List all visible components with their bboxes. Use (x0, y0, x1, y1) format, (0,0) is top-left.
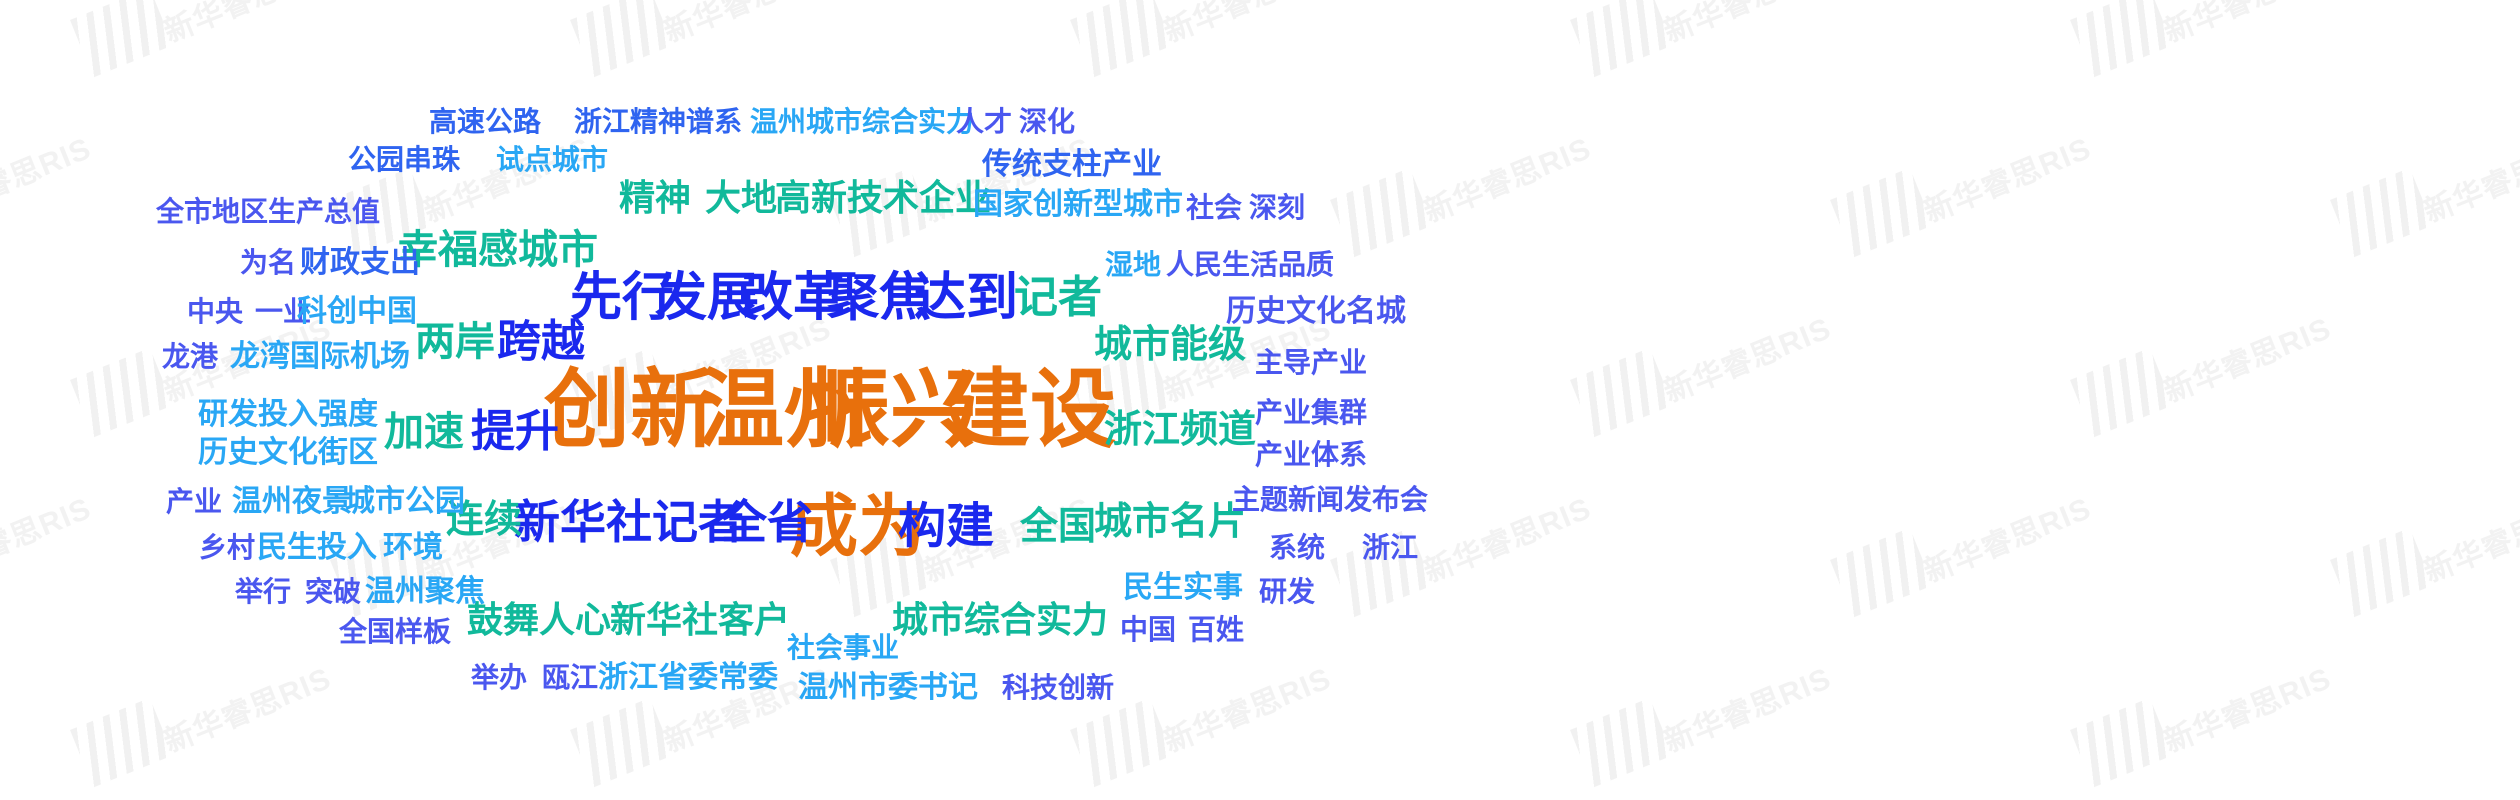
word-cloud-term[interactable]: 公园串珠 (348, 146, 460, 174)
word-cloud-term[interactable]: 财政支出 (300, 248, 420, 278)
word-cloud-term[interactable]: 新华社客户 (610, 602, 790, 638)
word-cloud-term[interactable]: 主导产业 (1255, 349, 1367, 377)
word-cloud-term[interactable]: 城市综合实力 (892, 602, 1108, 638)
word-cloud-term[interactable]: 提升 (471, 410, 559, 454)
word-cloud-term[interactable]: 创新 (544, 367, 716, 453)
word-cloud-term[interactable]: 民生实事 (1123, 573, 1243, 603)
word-cloud-term[interactable]: 构建 (898, 503, 994, 551)
word-cloud-term[interactable]: 系统 (1269, 534, 1325, 562)
word-cloud-term[interactable]: 为名 (240, 249, 296, 277)
word-cloud-term[interactable]: 新华社记者 (514, 499, 744, 545)
word-cloud-term[interactable]: 达到 (914, 272, 1018, 324)
word-cloud-term[interactable]: 浙江 (1362, 534, 1418, 562)
word-cloud-term[interactable]: 全省 (721, 499, 813, 545)
word-cloud-term[interactable]: 城市公园 (345, 487, 465, 517)
word-cloud-canvas: 新华睿思RIS新华睿思RIS新华睿思RIS新华睿思RIS新华睿思RIS新华睿思R… (0, 0, 2520, 800)
word-cloud-term[interactable]: 温州聚焦 (365, 577, 485, 607)
word-cloud-term[interactable]: 民生投入 (257, 533, 377, 563)
word-cloud-term[interactable]: 两岸 (415, 322, 495, 362)
word-cloud-term[interactable]: 中央 (187, 298, 243, 326)
word-cloud-term[interactable]: 精神 (619, 180, 691, 216)
word-cloud-term[interactable]: 举行 (235, 578, 291, 606)
word-cloud-term[interactable]: 全国 (1020, 508, 1096, 546)
word-cloud-term[interactable]: 大地 (705, 180, 777, 216)
word-cloud-term[interactable]: 深化 (1019, 108, 1075, 136)
word-cloud-term[interactable]: 记者 (1014, 276, 1102, 320)
word-cloud-term[interactable]: 高速公路 (429, 108, 541, 136)
word-cloud-term[interactable]: 城市能级 (1094, 326, 1246, 364)
word-cloud-term[interactable]: 百姓 (1188, 616, 1244, 644)
word-cloud-term[interactable]: 产业体系 (1255, 441, 1367, 469)
word-cloud-term[interactable]: 国家创新型城市 (973, 190, 1183, 220)
word-cloud-term[interactable]: 人才 (956, 108, 1012, 136)
word-cloud-term[interactable]: 加速 (384, 412, 464, 452)
word-cloud-term[interactable]: 历史文化名城 (1226, 297, 1406, 327)
word-cloud-term[interactable]: 研发 (1259, 578, 1315, 606)
word-cloud-term[interactable]: 研发投入强度 (198, 400, 378, 430)
word-cloud-term[interactable]: 人民生活品质 (1166, 251, 1334, 279)
word-cloud-term[interactable]: 浙江精神谱系 (574, 108, 742, 136)
word-cloud-term[interactable]: 全国样板 (339, 618, 451, 646)
word-cloud-term[interactable]: 主题新闻发布会 (1232, 486, 1428, 514)
word-cloud-term[interactable]: 温州市委书记 (798, 673, 978, 703)
word-cloud-term[interactable]: 建设 (944, 367, 1116, 453)
word-cloud-term[interactable]: 高新技术企业 (775, 180, 991, 216)
word-cloud-term[interactable]: 产业 (166, 488, 222, 516)
word-cloud-term[interactable]: 鼓舞人心 (467, 602, 611, 638)
word-cloud-term[interactable]: 温州城市综合实力 (750, 108, 974, 136)
word-cloud-term[interactable]: 浙江频道 (1104, 411, 1256, 449)
word-cloud-term[interactable]: 突破 (305, 578, 361, 606)
word-cloud-term[interactable]: 跨越 (497, 320, 585, 364)
word-cloud-term[interactable]: 温州夜景 (232, 487, 352, 517)
word-cloud-term[interactable]: 浙江省委常委 (598, 663, 778, 693)
word-cloud-term[interactable]: 科创中国 (297, 297, 417, 327)
word-cloud-term[interactable]: 环境 (383, 533, 443, 563)
word-cloud-term[interactable]: 龙湾国际机场 (230, 342, 410, 372)
word-cloud-term[interactable]: 举办 (471, 664, 527, 692)
word-cloud-term[interactable]: 试点城市 (496, 146, 608, 174)
word-cloud-term[interactable]: 社会事业 (787, 634, 899, 662)
word-cloud-term[interactable]: 乡村 (199, 534, 255, 562)
word-cloud-term[interactable]: 产业集群 (1255, 399, 1367, 427)
word-cloud-term[interactable]: 城市名片 (1094, 503, 1246, 541)
word-cloud-term[interactable]: 龙港 (162, 343, 218, 371)
word-cloud-term[interactable]: 全市地区生产总值 (156, 198, 380, 226)
word-cloud-term[interactable]: 幸福感城市 (398, 230, 598, 270)
word-cloud-term[interactable]: 瓯江 (542, 664, 598, 692)
word-cloud-term[interactable]: 中国 (1120, 616, 1176, 644)
word-cloud-term[interactable]: 湿地 (1105, 251, 1161, 279)
word-cloud-term[interactable]: 历史文化街区 (198, 438, 378, 468)
word-cloud-term[interactable]: 社会 (1186, 194, 1242, 222)
word-cloud-term[interactable]: 传统支柱产业 (982, 150, 1162, 180)
word-cloud-term[interactable]: 科技创新 (1002, 674, 1114, 702)
word-cloud-word-layer: 创新温州振兴建设成为先行发展改革聚焦达到记者新华社记者全省构建跨越提升幸福感城市… (0, 0, 2520, 800)
word-cloud-term[interactable]: 深刻 (1249, 194, 1305, 222)
